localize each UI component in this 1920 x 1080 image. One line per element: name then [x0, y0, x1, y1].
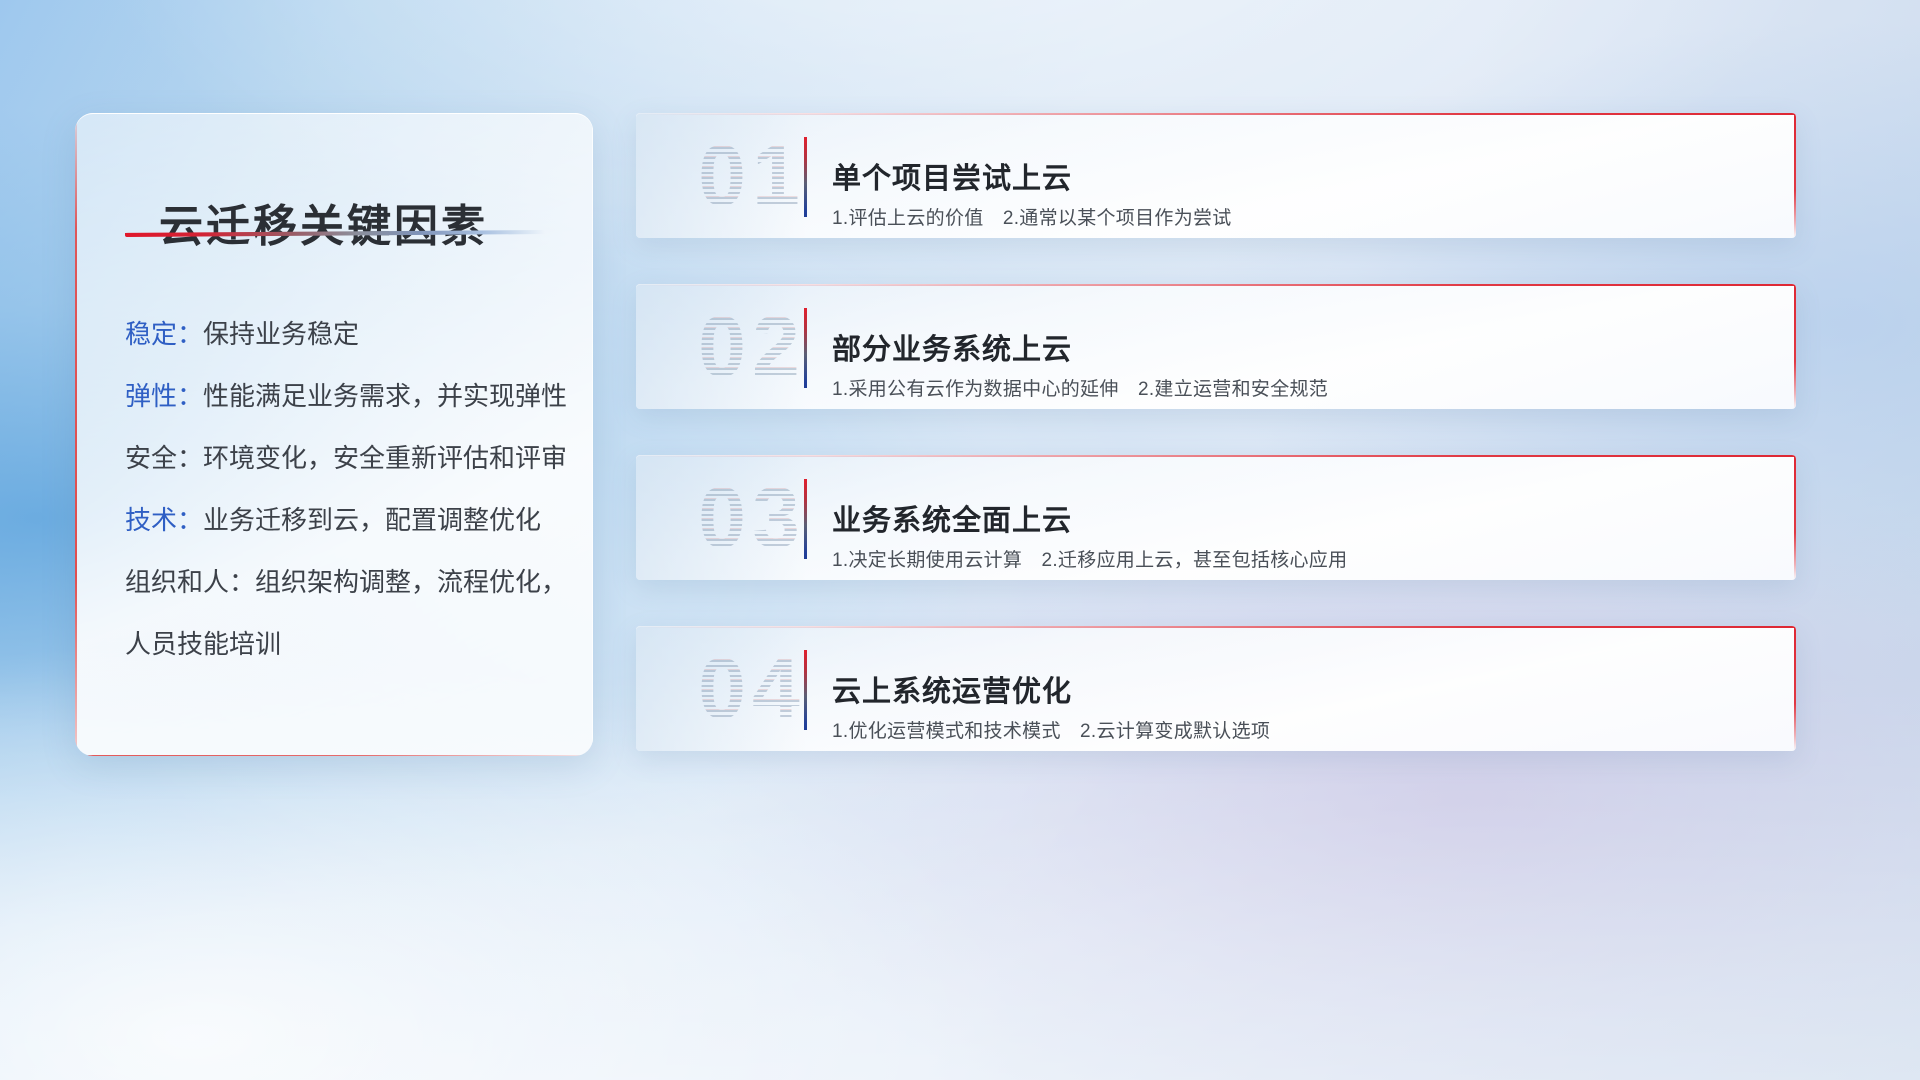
- card-divider-bar: [804, 308, 807, 388]
- card-divider-bar: [804, 137, 807, 217]
- list-item: 稳定：保持业务稳定: [125, 303, 565, 365]
- step-number: 03: [662, 469, 842, 567]
- step-card[interactable]: 04 04 云上系统运营优化 1.优化运营模式和技术模式 2.云计算变成默认选项: [636, 626, 1796, 751]
- factor-label: 组织和人：: [125, 567, 255, 597]
- factor-list: 稳定：保持业务稳定 弹性：性能满足业务需求，并实现弹性 安全：环境变化，安全重新…: [125, 303, 565, 675]
- list-item: 技术：业务迁移到云，配置调整优化: [125, 489, 565, 551]
- card-divider-bar: [804, 650, 807, 730]
- panel-top-edge: [75, 113, 593, 114]
- card-right-accent-rule: [1794, 626, 1796, 751]
- panel-right-edge: [592, 113, 593, 756]
- step-card[interactable]: 02 02 部分业务系统上云 1.采用公有云作为数据中心的延伸 2.建立运营和安…: [636, 284, 1796, 409]
- card-right-accent-rule: [1794, 284, 1796, 409]
- factor-label: 弹性：: [125, 381, 203, 411]
- step-subtitle: 1.评估上云的价值 2.通常以某个项目作为尝试: [832, 203, 1232, 230]
- card-top-accent-rule: [636, 113, 1796, 115]
- factor-text: 环境变化，安全重新评估和评审: [203, 443, 567, 473]
- list-item: 弹性：性能满足业务需求，并实现弹性: [125, 365, 565, 427]
- step-number: 02: [662, 298, 842, 396]
- key-factors-panel: 云迁移关键因素 稳定：保持业务稳定 弹性：性能满足业务需求，并实现弹性 安全：环…: [75, 113, 593, 756]
- factor-text: 保持业务稳定: [203, 319, 359, 349]
- page-title: 云迁移关键因素: [159, 190, 488, 254]
- step-title: 单个项目尝试上云: [832, 155, 1072, 197]
- factor-text: 性能满足业务需求，并实现弹性: [203, 381, 567, 411]
- step-number: 04: [662, 640, 842, 738]
- step-title: 云上系统运营优化: [832, 668, 1072, 710]
- factor-label: 稳定：: [125, 319, 203, 349]
- migration-steps-list: 01 01 单个项目尝试上云 1.评估上云的价值 2.通常以某个项目作为尝试 0…: [636, 113, 1796, 797]
- card-top-accent-rule: [636, 626, 1796, 628]
- factor-text: 组织架构调整，流程优化，: [255, 567, 567, 597]
- factor-label: 安全：: [125, 443, 203, 473]
- factor-label: 技术：: [125, 505, 203, 535]
- factor-text: 人员技能培训: [125, 629, 281, 659]
- card-divider-bar: [804, 479, 807, 559]
- list-item: 安全：环境变化，安全重新评估和评审: [125, 427, 565, 489]
- list-item: 人员技能培训: [125, 613, 565, 675]
- card-top-accent-rule: [636, 284, 1796, 286]
- step-card[interactable]: 03 03 业务系统全面上云 1.决定长期使用云计算 2.迁移应用上云，甚至包括…: [636, 455, 1796, 580]
- step-subtitle: 1.优化运营模式和技术模式 2.云计算变成默认选项: [832, 716, 1270, 743]
- step-title: 部分业务系统上云: [832, 326, 1072, 368]
- list-item: 组织和人：组织架构调整，流程优化，: [125, 551, 565, 613]
- step-subtitle: 1.决定长期使用云计算 2.迁移应用上云，甚至包括核心应用: [832, 545, 1347, 572]
- card-right-accent-rule: [1794, 113, 1796, 238]
- step-card[interactable]: 01 01 单个项目尝试上云 1.评估上云的价值 2.通常以某个项目作为尝试: [636, 113, 1796, 238]
- card-top-accent-rule: [636, 455, 1796, 457]
- step-number: 01: [662, 127, 842, 225]
- factor-text: 业务迁移到云，配置调整优化: [203, 505, 541, 535]
- card-right-accent-rule: [1794, 455, 1796, 580]
- step-title: 业务系统全面上云: [832, 497, 1072, 539]
- step-subtitle: 1.采用公有云作为数据中心的延伸 2.建立运营和安全规范: [832, 374, 1328, 401]
